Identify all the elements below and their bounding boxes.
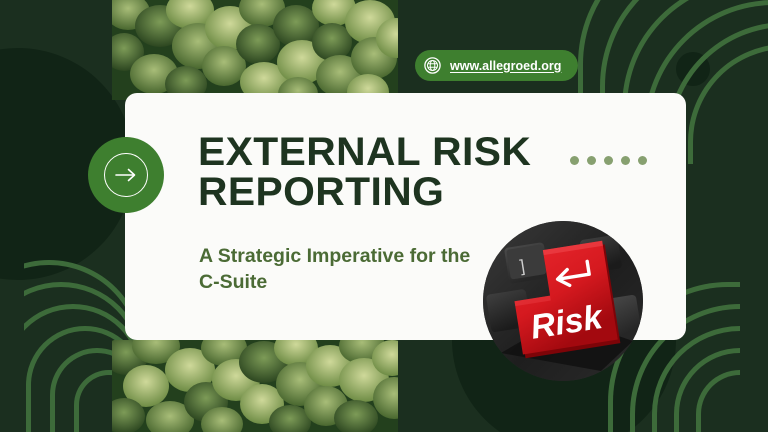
- dot: [638, 156, 647, 165]
- dot: [587, 156, 596, 165]
- website-url-text: www.allegroed.org: [450, 59, 561, 73]
- page-subtitle: A Strategic Imperative for the C-Suite: [199, 243, 489, 295]
- forest-canopy-illustration: [112, 0, 398, 100]
- dot: [570, 156, 579, 165]
- dot: [604, 156, 613, 165]
- dot: [621, 156, 630, 165]
- page-title: EXTERNAL RISK REPORTING: [198, 133, 575, 212]
- decor-dark-circle-top-right: [676, 52, 710, 86]
- aerial-forest-canopy-photo-bottom: [112, 340, 398, 432]
- aerial-forest-canopy-photo-top: [112, 0, 398, 100]
- globe-icon: [424, 57, 441, 74]
- arrow-right-icon: [104, 153, 148, 197]
- forest-canopy-illustration: [112, 340, 398, 432]
- decor-dots: [570, 156, 647, 165]
- next-slide-button[interactable]: [88, 137, 164, 213]
- slide-canvas: EXTERNAL RISK REPORTING A Strategic Impe…: [0, 0, 768, 432]
- keyboard-risk-key-photo: ]: [483, 221, 643, 381]
- website-url-badge[interactable]: www.allegroed.org: [415, 50, 578, 81]
